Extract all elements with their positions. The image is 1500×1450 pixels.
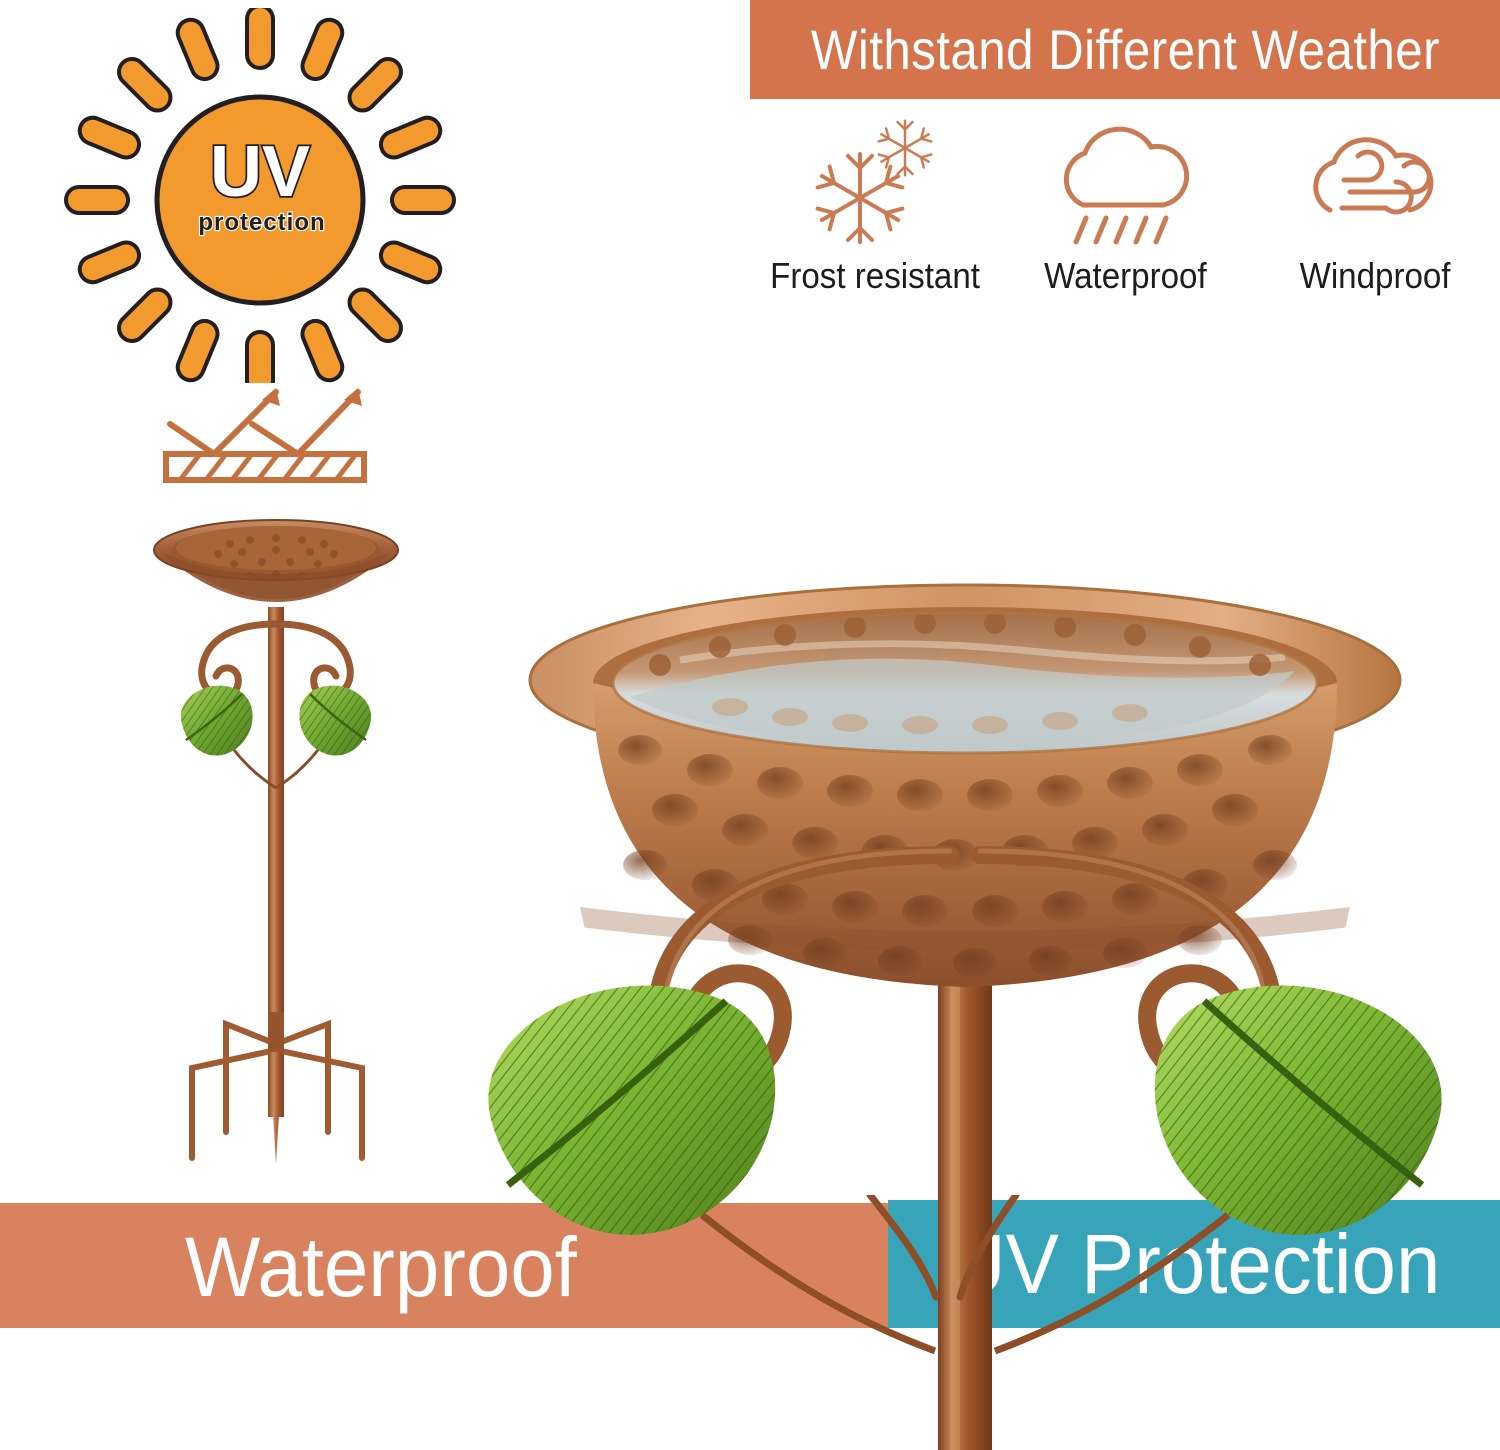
uv-badge-secondary-text: protection: [198, 209, 325, 236]
weather-feature-row: Frost resistant Waterproof: [750, 110, 1500, 305]
green-leaf-left: [181, 686, 253, 756]
leaf-stem-overlay: [820, 1195, 1120, 1315]
product-infographic: UV protection: [0, 0, 1500, 1450]
wind-cloud-icon: [1300, 110, 1450, 250]
weather-feature-frost: Frost resistant: [760, 110, 990, 294]
weather-feature-waterproof: Waterproof: [1010, 110, 1240, 294]
uv-reflection-icon: [152, 368, 382, 488]
copper-birdbath-full-view: [130, 512, 430, 1172]
snowflake-icon: [805, 110, 945, 250]
weather-feature-label: Waterproof: [1044, 258, 1207, 294]
rain-cloud-icon: [1050, 110, 1200, 250]
green-leaf-right: [299, 686, 371, 756]
weather-feature-label: Frost resistant: [770, 258, 980, 294]
header-banner: Withstand Different Weather: [750, 0, 1500, 99]
uv-badge-primary-text: UV: [210, 132, 310, 212]
weather-feature-label: Windproof: [1300, 258, 1451, 294]
weather-feature-windproof: Windproof: [1260, 110, 1490, 294]
uv-sun-icon: UV protection: [62, 8, 462, 383]
header-banner-title: Withstand Different Weather: [810, 22, 1439, 78]
